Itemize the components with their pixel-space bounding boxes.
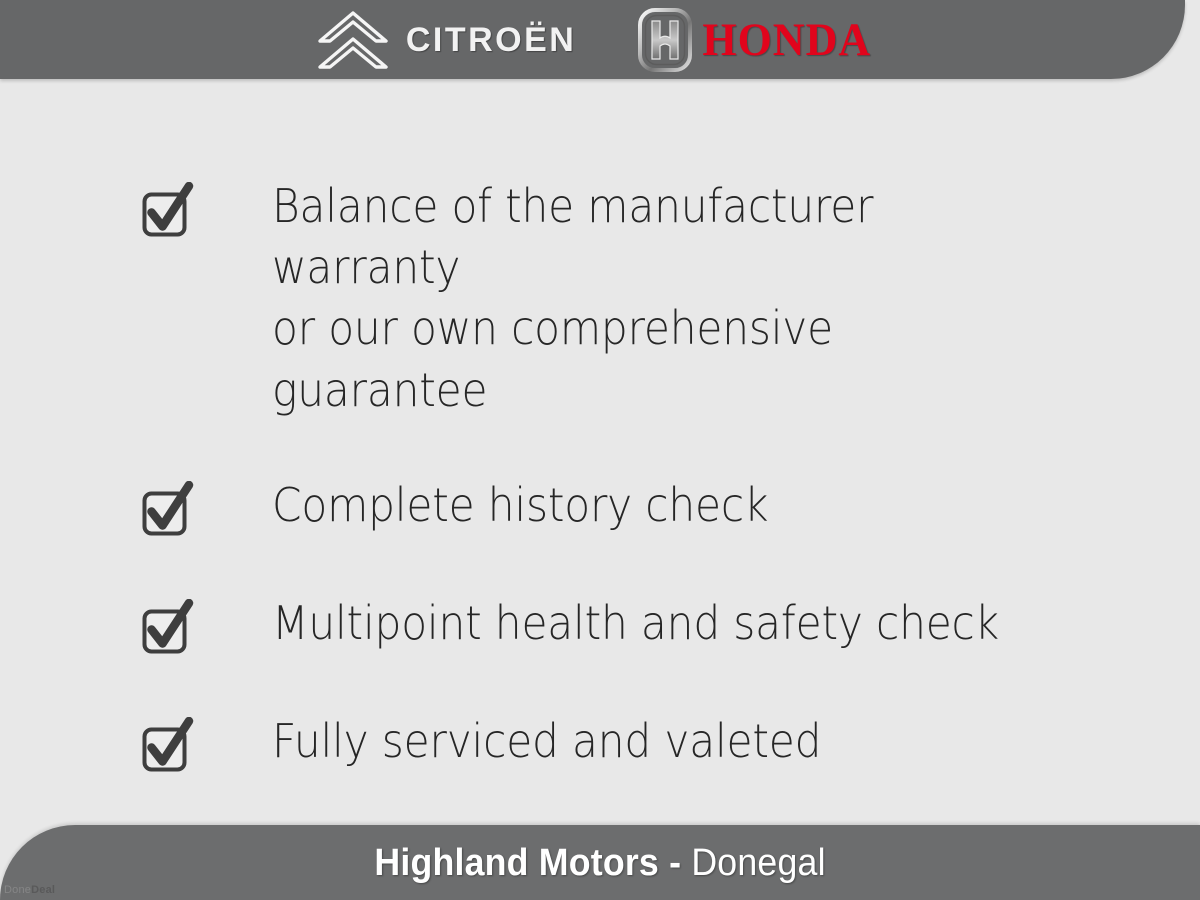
list-item-label: Complete history check	[272, 475, 768, 536]
donedeal-watermark: DoneDeal	[4, 885, 55, 896]
dealer-separator: -	[659, 842, 691, 884]
slide-root: CITROËN	[0, 0, 1200, 900]
honda-brand-logo: HONDA	[638, 8, 871, 72]
list-item-label: Fully serviced and valeted	[272, 711, 821, 772]
feature-list: Balance of the manufacturer warranty or …	[140, 176, 1100, 775]
honda-h-emblem-icon	[638, 8, 692, 72]
citroen-wordmark: CITROËN	[406, 23, 577, 57]
checkbox-checked-icon	[140, 481, 198, 539]
watermark-part-two: Deal	[31, 884, 55, 896]
list-item-label: Balance of the manufacturer warranty or …	[272, 176, 1034, 421]
citroen-chevrons-icon	[314, 9, 392, 71]
dealer-title: Highland Motors - Donegal	[374, 844, 825, 882]
honda-wordmark: HONDA	[702, 16, 871, 63]
watermark-part-one: Done	[4, 884, 31, 896]
list-item: Fully serviced and valeted	[140, 711, 1100, 775]
dealer-footer-bar: Highland Motors - Donegal	[0, 825, 1200, 900]
dealer-location: Donegal	[691, 842, 825, 884]
brand-header-bar: CITROËN	[0, 0, 1185, 79]
checkbox-checked-icon	[140, 599, 198, 657]
checkbox-checked-icon	[140, 182, 198, 240]
list-item: Multipoint health and safety check	[140, 593, 1100, 657]
checkbox-checked-icon	[140, 717, 198, 775]
list-item: Complete history check	[140, 475, 1100, 539]
citroen-brand-logo: CITROËN	[314, 9, 577, 71]
list-item: Balance of the manufacturer warranty or …	[140, 176, 1100, 421]
list-item-label: Multipoint health and safety check	[272, 593, 999, 654]
dealer-name: Highland Motors	[374, 842, 659, 884]
